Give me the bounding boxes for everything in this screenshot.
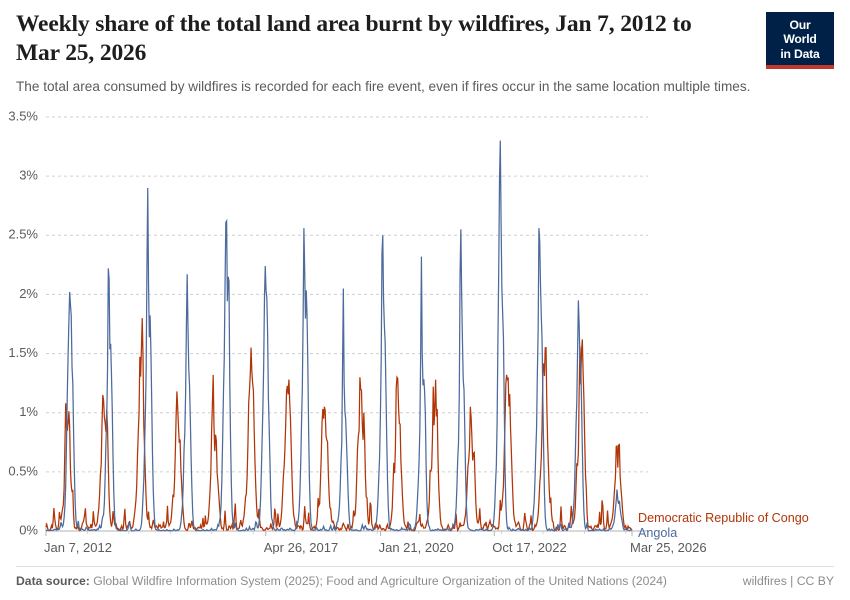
y-axis-tick-label: 0.5%	[8, 463, 38, 478]
chart-footer: Data source: Global Wildfire Information…	[16, 566, 834, 588]
license-note[interactable]: wildfires | CC BY	[743, 574, 834, 588]
legend-label-drc[interactable]: Democratic Republic of Congo	[638, 511, 809, 525]
line-chart-svg[interactable]: 0%0.5%1%1.5%2%2.5%3%3.5% Jan 7, 2012Apr …	[0, 104, 850, 554]
legend-label-angola[interactable]: Angola	[638, 526, 677, 540]
x-axis-tick-label: Mar 25, 2026	[630, 540, 707, 554]
data-source: Data source: Global Wildfire Information…	[16, 574, 667, 588]
x-axis-tick-labels: Jan 7, 2012Apr 26, 2017Jan 21, 2020Oct 1…	[44, 540, 707, 554]
logo-line-1: Our World	[772, 18, 828, 47]
y-axis-tick-label: 2.5%	[8, 227, 38, 242]
y-axis-tick-label: 3.5%	[8, 108, 38, 123]
x-axis-tick-label: Apr 26, 2017	[264, 540, 338, 554]
gridlines-group	[46, 117, 648, 472]
page-title: Weekly share of the total land area burn…	[16, 10, 706, 68]
data-series-group[interactable]	[46, 141, 632, 531]
data-source-label: Data source:	[16, 574, 90, 588]
our-world-in-data-logo[interactable]: Our World in Data	[766, 12, 834, 69]
y-axis-tick-labels: 0%0.5%1%1.5%2%2.5%3%3.5%	[8, 108, 38, 537]
chart-root: Weekly share of the total land area burn…	[0, 0, 850, 600]
chart-header: Weekly share of the total land area burn…	[16, 10, 756, 97]
y-axis-tick-label: 2%	[19, 286, 38, 301]
y-axis-tick-label: 0%	[19, 522, 38, 537]
chart-subtitle: The total area consumed by wildfires is …	[16, 78, 836, 96]
x-axis-tick-label: Jan 7, 2012	[44, 540, 112, 554]
x-axis-tick-label: Oct 17, 2022	[492, 540, 566, 554]
series-line-angola[interactable]	[46, 141, 632, 531]
logo-line-2: in Data	[772, 47, 828, 61]
x-axis-tick-label: Jan 21, 2020	[379, 540, 454, 554]
y-axis-tick-label: 3%	[19, 168, 38, 183]
data-source-text: Global Wildfire Information System (2025…	[93, 574, 667, 588]
chart-plot-area[interactable]: 0%0.5%1%1.5%2%2.5%3%3.5% Jan 7, 2012Apr …	[0, 104, 850, 554]
y-axis-tick-label: 1.5%	[8, 345, 38, 360]
y-axis-tick-label: 1%	[19, 404, 38, 419]
chart-legend[interactable]: Democratic Republic of CongoAngola	[638, 511, 809, 540]
